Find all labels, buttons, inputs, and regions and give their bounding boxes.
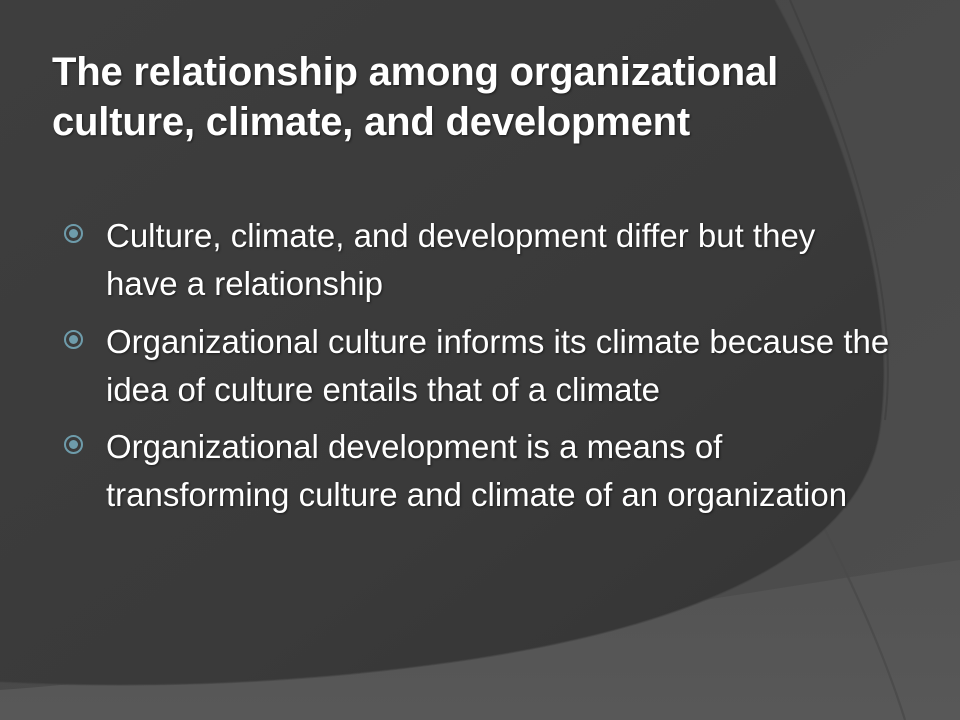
presentation-slide: The relationship among organizational cu… (0, 0, 960, 720)
bullet-item-2-text: Organizational culture informs its clima… (106, 318, 890, 414)
bullet-list: Culture, climate, and development differ… (62, 212, 890, 529)
slide-content: The relationship among organizational cu… (0, 0, 960, 720)
bullet-item-3: Organizational development is a means of… (62, 423, 890, 519)
target-ring-bullet-icon (64, 330, 83, 349)
bullet-item-3-text: Organizational development is a means of… (106, 423, 890, 519)
target-ring-bullet-icon (64, 435, 83, 454)
slide-title: The relationship among organizational cu… (52, 47, 882, 148)
bullet-item-2: Organizational culture informs its clima… (62, 318, 890, 414)
bullet-item-1: Culture, climate, and development differ… (62, 212, 890, 308)
target-ring-bullet-icon (64, 224, 83, 243)
bullet-item-1-text: Culture, climate, and development differ… (106, 212, 890, 308)
